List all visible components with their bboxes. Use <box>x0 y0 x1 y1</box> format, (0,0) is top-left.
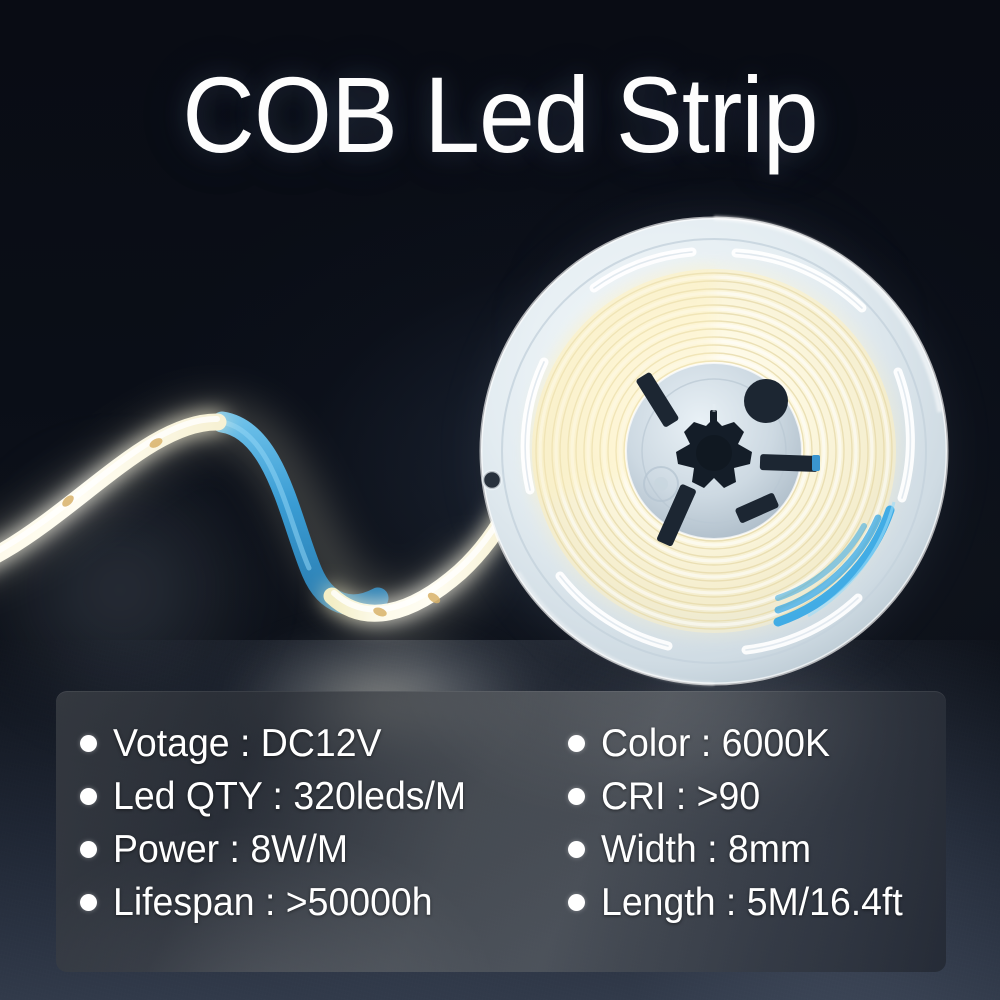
bullet-icon <box>568 788 585 805</box>
bullet-icon <box>80 788 97 805</box>
spec-length-text: Length : 5M/16.4ft <box>601 883 903 922</box>
spec-width-text: Width : 8mm <box>601 830 811 869</box>
spec-column-left: Votage : DC12V Led QTY : 320leds/M Power… <box>56 717 562 929</box>
spec-column-right: Color : 6000K CRI : >90 Width : 8mm Leng… <box>562 717 946 929</box>
bullet-icon <box>568 841 585 858</box>
spec-row-width: Width : 8mm <box>568 823 946 876</box>
spec-power-text: Power : 8W/M <box>113 830 348 869</box>
spec-row-cri: CRI : >90 <box>568 770 946 823</box>
page-title: COB Led Strip <box>35 58 965 172</box>
bullet-icon <box>80 894 97 911</box>
bullet-icon <box>80 841 97 858</box>
bullet-icon <box>80 735 97 752</box>
spec-row-led-qty: Led QTY : 320leds/M <box>80 770 562 823</box>
spec-voltage-text: Votage : DC12V <box>113 724 382 763</box>
spec-cri-text: CRI : >90 <box>601 777 760 816</box>
bullet-icon <box>568 894 585 911</box>
spec-row-color: Color : 6000K <box>568 717 946 770</box>
spec-row-voltage: Votage : DC12V <box>80 717 562 770</box>
spec-row-length: Length : 5M/16.4ft <box>568 876 946 929</box>
spec-lifespan-text: Lifespan : >50000h <box>113 883 433 922</box>
led-strip-wave <box>0 360 560 690</box>
bullet-icon <box>568 735 585 752</box>
led-strip-reel <box>478 212 950 690</box>
spec-row-lifespan: Lifespan : >50000h <box>80 876 562 929</box>
specifications-panel: Votage : DC12V Led QTY : 320leds/M Power… <box>56 691 946 972</box>
product-image-canvas: COB Led Strip <box>0 0 1000 1000</box>
spec-color-text: Color : 6000K <box>601 724 830 763</box>
spec-row-power: Power : 8W/M <box>80 823 562 876</box>
spec-led-qty-text: Led QTY : 320leds/M <box>113 777 466 816</box>
